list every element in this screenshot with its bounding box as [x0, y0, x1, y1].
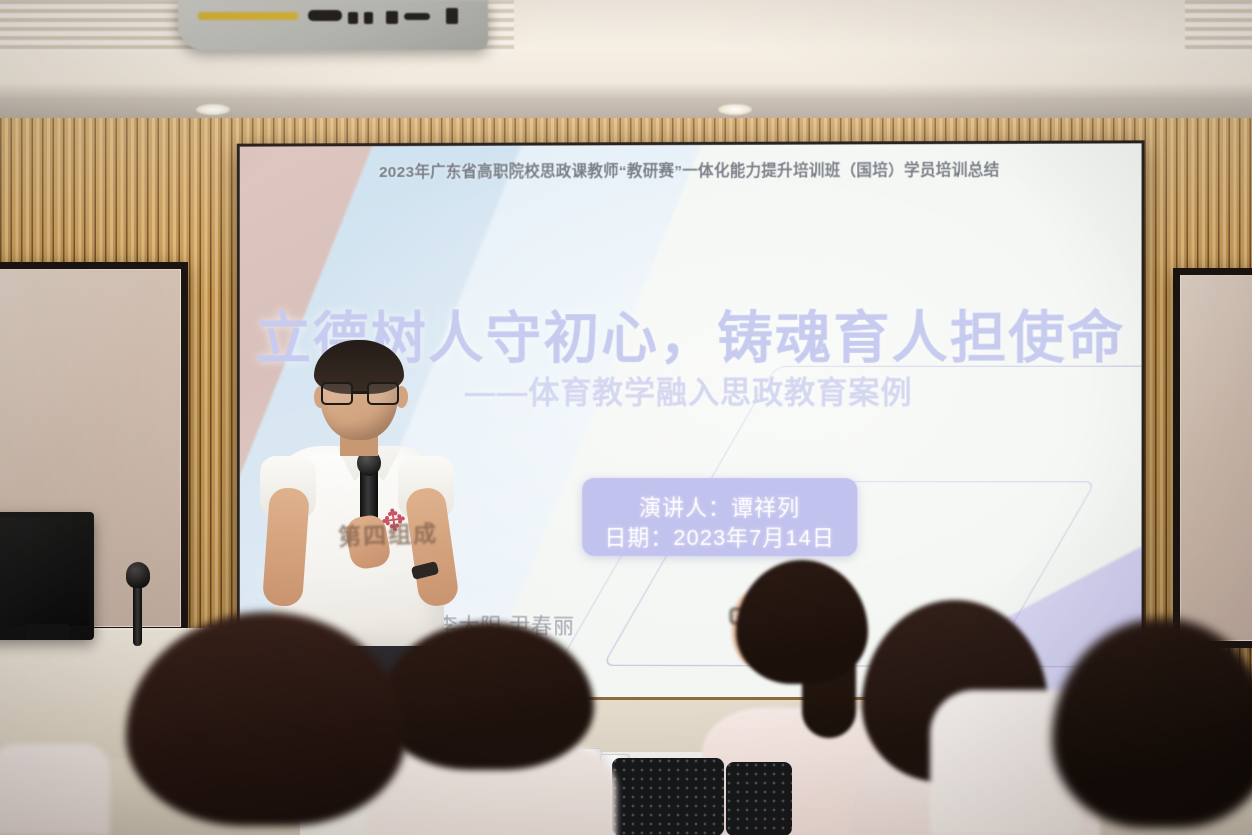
presenter-info-badge: 演讲人：谭祥列 日期：2023年7月14日 — [582, 478, 857, 556]
presenter-name-line: 演讲人：谭祥列 — [582, 490, 857, 522]
audience-member-1 — [126, 612, 406, 835]
ceiling — [0, 0, 1252, 118]
cable-d — [386, 11, 398, 24]
cable-e — [404, 13, 430, 20]
audience-member-2 — [380, 622, 594, 835]
yellow-cable — [198, 12, 298, 20]
cable-b — [348, 12, 358, 24]
podium-monitor — [0, 512, 94, 640]
monitor-screen — [0, 517, 89, 626]
audience-chair-1 — [612, 758, 724, 835]
projected-group-label: 第四组成 — [337, 514, 438, 551]
cable-a — [308, 10, 342, 21]
left-arm — [262, 487, 310, 608]
downlight-1 — [196, 104, 230, 115]
slide-header-text: 2023年广东省高职院校思政课教师“教研赛”一体化能力提升培训班（国培）学员培训… — [240, 157, 1142, 182]
audience-2-hair — [380, 622, 594, 770]
lecture-hall-photo: 2023年广东省高职院校思政课教师“教研赛”一体化能力提升培训班（国培）学员培训… — [0, 0, 1252, 835]
audience-3-hair — [736, 560, 868, 684]
left-lens — [321, 382, 353, 405]
monitor-stand — [26, 624, 70, 640]
right-lens — [367, 382, 399, 405]
audience-chair-2 — [726, 762, 792, 835]
cable-f — [446, 8, 458, 24]
air-vent-right — [1185, 0, 1252, 52]
audience-member-5 — [1052, 618, 1252, 835]
right-whiteboard — [1173, 268, 1252, 648]
projector-cables — [190, 0, 490, 26]
audience-5-hair — [1052, 618, 1252, 828]
presentation-date-line: 日期：2023年7月14日 — [582, 520, 857, 552]
right-whiteboard-face — [1180, 275, 1252, 641]
audience-left-shoulder — [0, 744, 110, 835]
cable-c — [364, 12, 373, 24]
gooseneck-microphone-head-icon — [126, 562, 150, 588]
glasses-bridge — [353, 391, 367, 394]
eyeglasses-icon — [320, 382, 400, 406]
downlight-2 — [718, 104, 752, 115]
audience-1-hair — [126, 612, 406, 826]
